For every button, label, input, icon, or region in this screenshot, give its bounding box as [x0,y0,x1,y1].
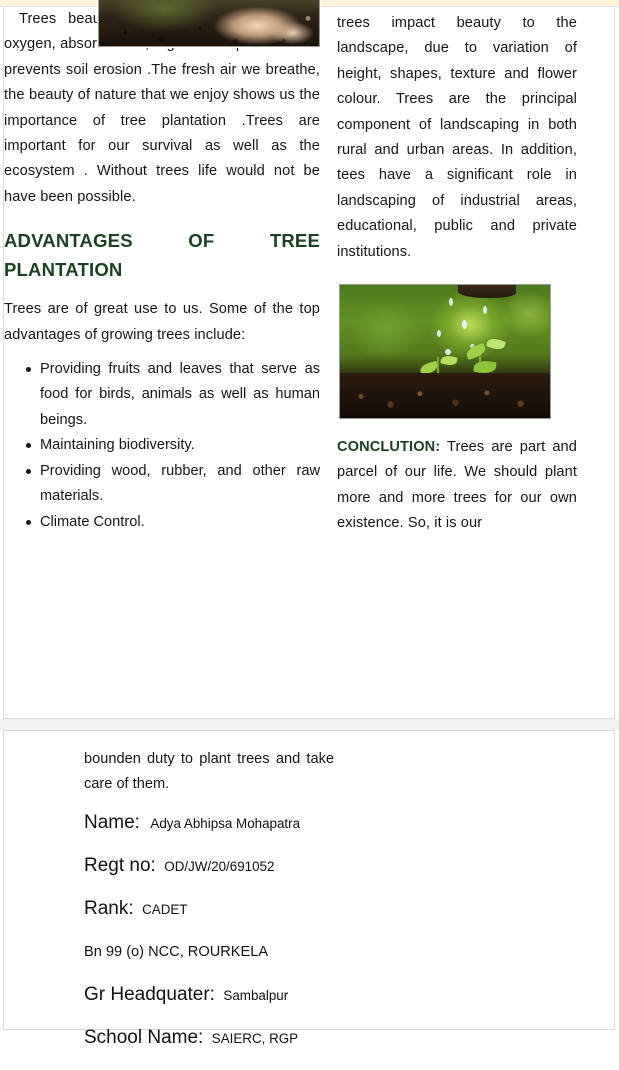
list-item-label: Climate Control. [40,514,145,530]
advantages-heading: ADVANTAGES OF TREE PLANTATION [4,226,320,284]
field-battalion-label: Bn 99 (o) NCC, ROURKELA [84,944,268,960]
field-regt-no-value: OD/JW/20/691052 [164,859,274,874]
cadet-details-block: bounden duty to plant trees and take car… [84,747,334,1070]
advantages-list: Providing fruits and leaves that serve a… [4,357,320,535]
field-rank: Rank: CADET [84,898,334,920]
field-rank-value: CADET [142,902,187,917]
field-gr-headquater-label: Gr Headquater: [84,984,215,1005]
field-school-name-value: SAIERC, RGP [212,1031,298,1046]
document-page-two: bounden duty to plant trees and take car… [3,730,615,1030]
list-intro-paragraph: Trees are of great use to us. Some of th… [4,297,320,348]
field-battalion: Bn 99 (o) NCC, ROURKELA [84,941,334,963]
hands-planting-in-soil-photo [98,0,320,47]
two-column-body: Trees beautify our surroundings, produce… [4,7,614,717]
field-name: Name: Adya Abhipsa Mohapatra [84,812,334,834]
intro-paragraph-block: Trees beautify our surroundings, produce… [4,7,320,210]
list-item-label: Providing fruits and leaves that serve a… [40,361,320,428]
field-regt-no: Regt no: OD/JW/20/691052 [84,855,334,877]
list-item: Maintaining biodiversity. [40,433,320,458]
advantages-heading-text: ADVANTAGES OF TREE PLANTATION [4,230,320,280]
field-school-name: School Name: SAIERC, RGP [84,1027,334,1049]
field-gr-headquater: Gr Headquater: Sambalpur [84,984,334,1006]
conclusion-paragraph: CONCLUTION: Trees are part and parcel of… [337,435,577,537]
conclusion-label: CONCLUTION: [337,439,440,455]
field-gr-headquater-value: Sambalpur [223,988,288,1003]
continued-paragraph-text: bounden duty to plant trees and take car… [84,751,334,792]
list-item-label: Maintaining biodiversity. [40,437,195,453]
list-item-label: Providing wood, rubber, and other raw ma… [40,463,320,504]
watering-saplings-photo [339,284,551,419]
list-item: Providing fruits and leaves that serve a… [40,357,320,433]
field-name-label: Name: [84,812,140,833]
field-rank-label: Rank: [84,898,134,919]
field-regt-no-label: Regt no: [84,855,156,876]
list-item: Providing wood, rubber, and other raw ma… [40,459,320,510]
field-school-name-label: School Name: [84,1027,203,1048]
continued-paragraph: bounden duty to plant trees and take car… [84,747,334,798]
right-column: trees impact beauty to the landscape, du… [337,7,577,265]
document-page-one: Trees beautify our surroundings, produce… [3,7,615,719]
list-intro-text: Trees are of great use to us. Some of th… [4,301,320,342]
list-item: Climate Control. [40,510,320,535]
left-column: Trees beautify our surroundings, produce… [4,7,320,535]
landscape-paragraph: trees impact beauty to the landscape, du… [337,11,577,265]
field-name-value: Adya Abhipsa Mohapatra [150,816,300,831]
page-separator [0,719,619,730]
landscape-paragraph-text: trees impact beauty to the landscape, du… [337,15,577,260]
